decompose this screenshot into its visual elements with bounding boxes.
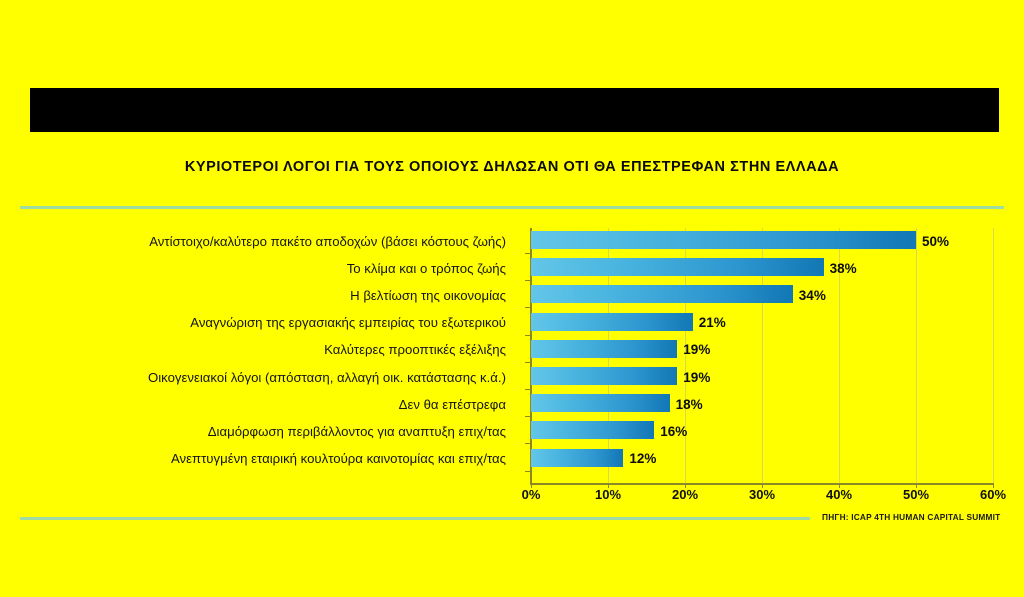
- y-axis-tick: [525, 307, 530, 308]
- bar: [531, 313, 693, 331]
- y-axis-tick: [525, 280, 530, 281]
- y-axis-tick: [525, 335, 530, 336]
- y-axis-tick: [525, 362, 530, 363]
- x-axis-tick-label: 60%: [980, 487, 1006, 502]
- bar-value-label: 19%: [683, 343, 710, 357]
- bar: [531, 340, 677, 358]
- y-axis-tick: [525, 471, 530, 472]
- bar-category-label: Δεν θα επέστρεφα: [399, 398, 506, 411]
- x-axis-tick-label: 10%: [595, 487, 621, 502]
- bar-category-label: Το κλίμα και ο τρόπος ζωής: [347, 262, 506, 275]
- bar-value-label: 12%: [629, 452, 656, 466]
- y-axis-tick: [525, 253, 530, 254]
- y-axis-tick: [525, 443, 530, 444]
- x-axis-tick-label: 30%: [749, 487, 775, 502]
- source-note: ΠΗΓΗ: ICAP 4TH HUMAN CAPITAL SUMMIT: [822, 512, 1000, 522]
- bar: [531, 231, 916, 249]
- bar: [531, 394, 670, 412]
- bar-category-label: Καλύτερες προοπτικές εξέλιξης: [324, 343, 506, 356]
- x-axis-tick-label: 0%: [522, 487, 541, 502]
- bar-category-label: Αναγνώριση της εργασιακής εμπειρίας του …: [190, 316, 506, 329]
- bar: [531, 421, 654, 439]
- bar-category-label: Αντίστοιχο/καλύτερο πακέτο αποδοχών (βάσ…: [149, 235, 506, 248]
- y-axis-tick: [525, 389, 530, 390]
- bar-category-label: Οικογενειακοί λόγοι (απόσταση, αλλαγή οι…: [148, 371, 506, 384]
- x-axis-tick-label: 20%: [672, 487, 698, 502]
- gridline: [993, 228, 994, 483]
- bar-value-label: 50%: [922, 235, 949, 249]
- bar-value-label: 19%: [683, 371, 710, 385]
- bar-value-label: 21%: [699, 316, 726, 330]
- bar-category-label: Η βελτίωση της οικονομίας: [350, 289, 506, 302]
- bar-value-label: 38%: [830, 262, 857, 276]
- gridline: [916, 228, 917, 483]
- bar: [531, 449, 623, 467]
- bar: [531, 285, 793, 303]
- bar: [531, 258, 824, 276]
- y-axis-tick: [525, 416, 530, 417]
- bar: [531, 367, 677, 385]
- x-axis-tick-label: 40%: [826, 487, 852, 502]
- bar-value-label: 16%: [660, 425, 687, 439]
- bar-chart-plot: 0%10%20%30%40%50%60%Αντίστοιχο/καλύτερο …: [0, 0, 1024, 597]
- bar-category-label: Διαμόρφωση περιβάλλοντος για αναπτυξη επ…: [208, 425, 506, 438]
- bar-value-label: 34%: [799, 289, 826, 303]
- bar-value-label: 18%: [676, 398, 703, 412]
- x-axis-tick-label: 50%: [903, 487, 929, 502]
- bar-category-label: Ανεπτυγμένη εταιρική κουλτούρα καινοτομί…: [171, 452, 506, 465]
